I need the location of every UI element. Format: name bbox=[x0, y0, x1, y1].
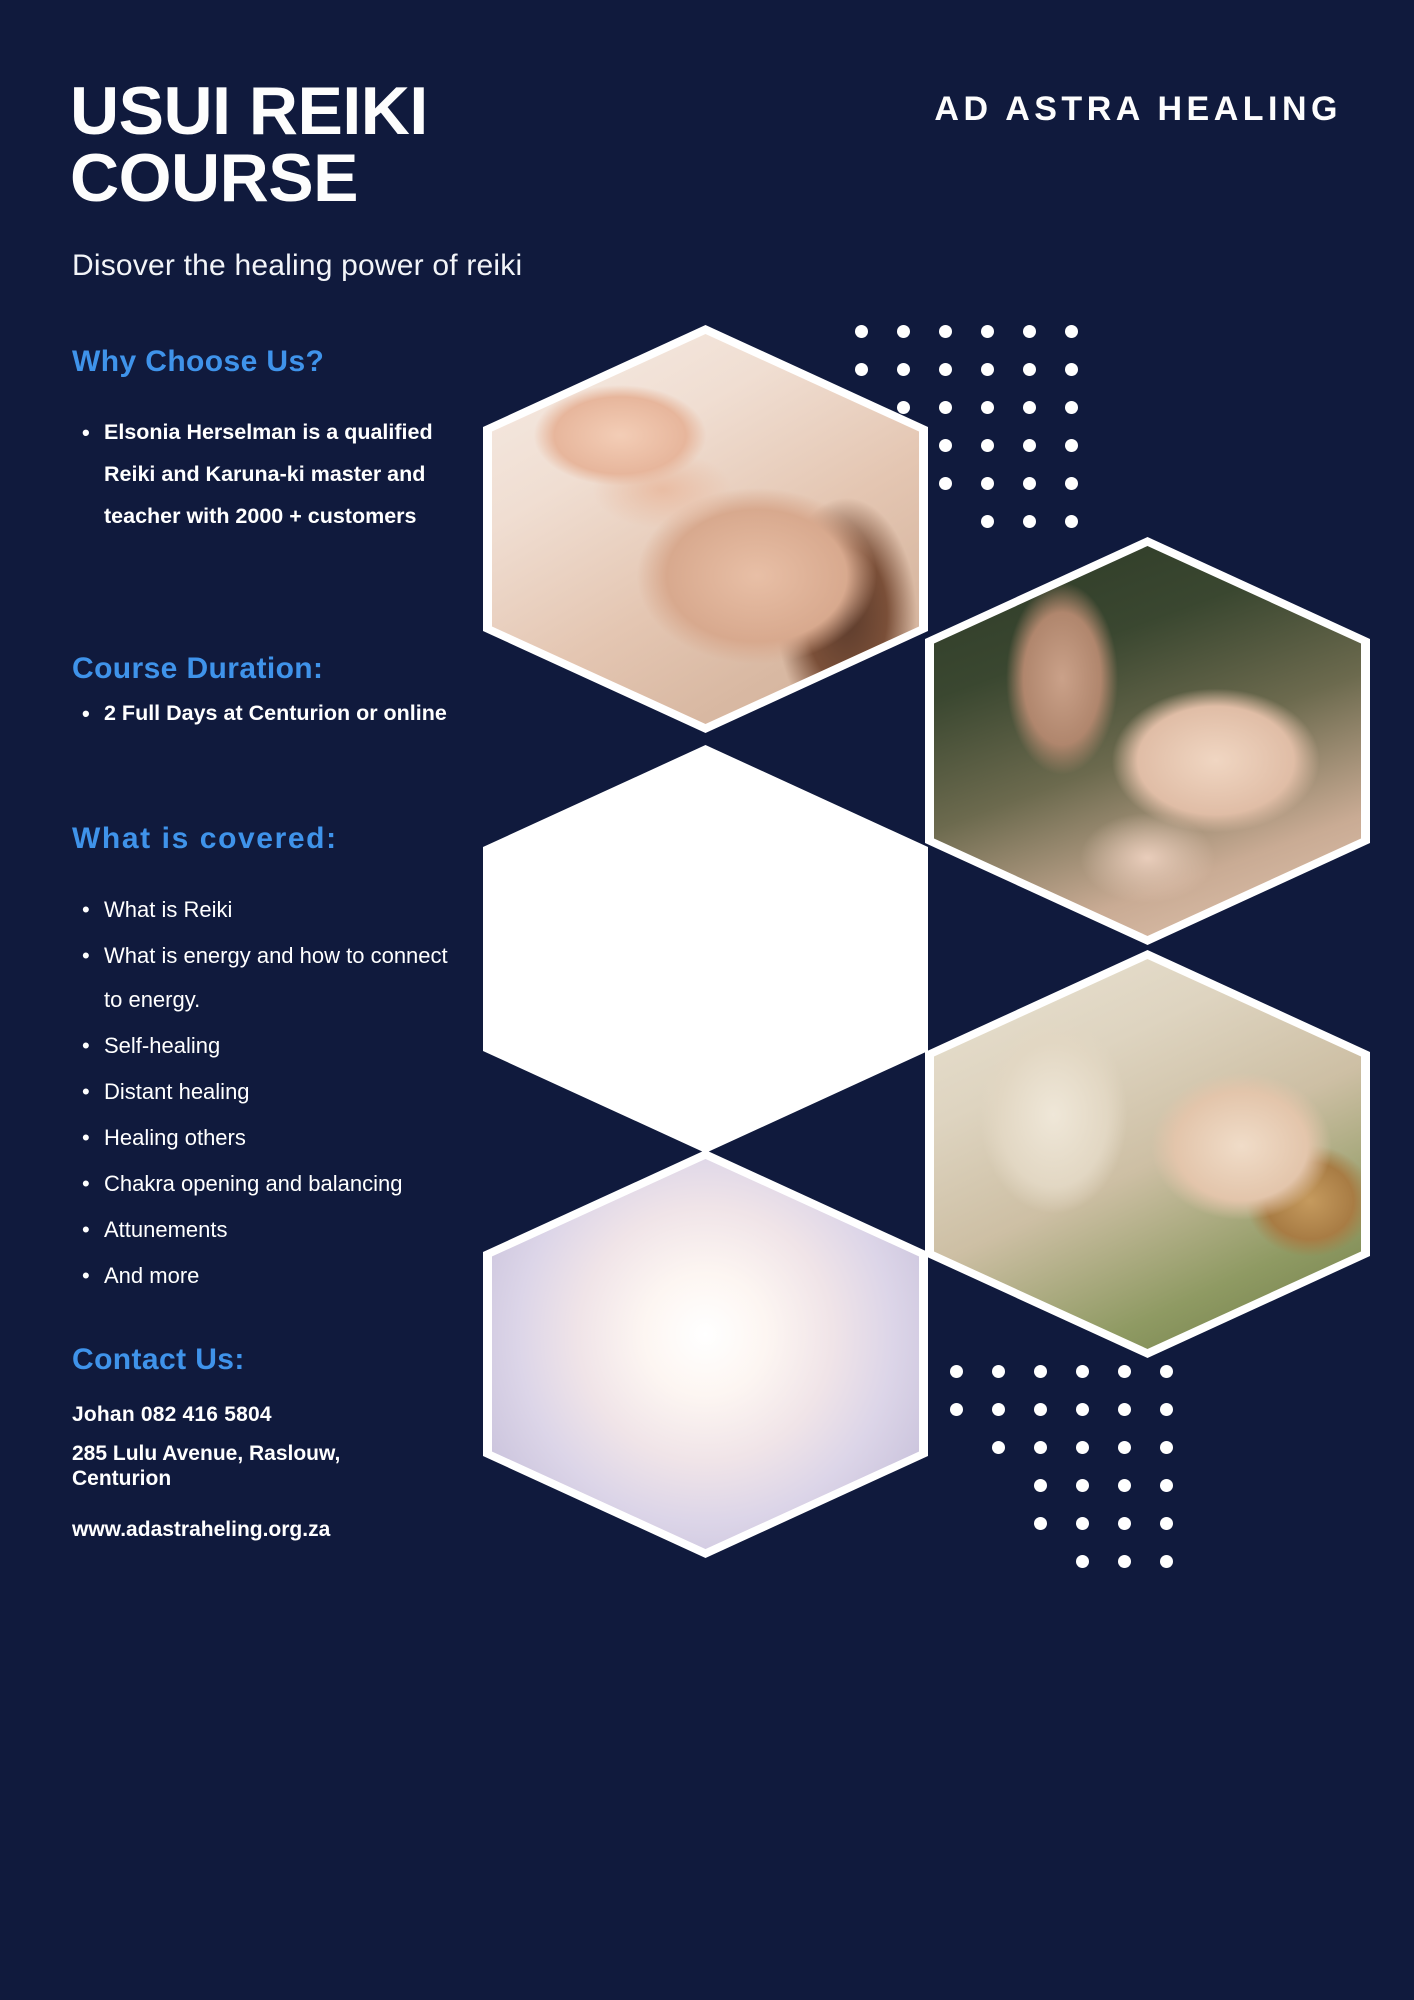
list-item: Distant healing bbox=[72, 1070, 472, 1114]
decorative-dot bbox=[1076, 1441, 1089, 1454]
decorative-dot bbox=[992, 1403, 1005, 1416]
hex-inner bbox=[492, 754, 919, 1144]
section-heading-what-is-covered: What is covered: bbox=[72, 822, 338, 856]
decorative-dot bbox=[1034, 1517, 1047, 1530]
decorative-dot bbox=[981, 363, 994, 376]
decorative-dot bbox=[1076, 1479, 1089, 1492]
decorative-dot bbox=[1076, 1555, 1089, 1568]
decorative-dot bbox=[1076, 1403, 1089, 1416]
list-item: Healing others bbox=[72, 1116, 472, 1160]
why-choose-us-list: Elsonia Herselman is a qualified Reiki a… bbox=[72, 412, 472, 540]
decorative-dot bbox=[992, 1365, 1005, 1378]
hex-inner bbox=[934, 959, 1361, 1349]
page-subtitle: Disover the healing power of reiki bbox=[72, 249, 772, 283]
decorative-dot bbox=[1160, 1517, 1173, 1530]
section-heading-why-choose-us: Why Choose Us? bbox=[72, 345, 324, 379]
contact-website[interactable]: www.adastraheling.org.za bbox=[72, 1518, 330, 1542]
decorative-dot bbox=[939, 477, 952, 490]
list-item: What is energy and how to connect to ene… bbox=[72, 934, 472, 1022]
section-heading-course-duration: Course Duration: bbox=[72, 652, 323, 686]
brand-name: AD ASTRA HEALING bbox=[882, 88, 1342, 132]
glowing-hands-light-photo bbox=[492, 1159, 919, 1549]
page-title: USUI REIKI COURSE bbox=[70, 78, 710, 211]
decorative-dot bbox=[855, 363, 868, 376]
hands-over-face-photo bbox=[934, 546, 1361, 936]
decorative-dot bbox=[939, 439, 952, 452]
hex-photo-shoulder-healing bbox=[925, 950, 1370, 1358]
hex-photo-hands-over-face bbox=[925, 537, 1370, 945]
dot-grid-top-right bbox=[855, 325, 1075, 535]
decorative-dot bbox=[1160, 1555, 1173, 1568]
decorative-dot bbox=[1160, 1365, 1173, 1378]
decorative-dot bbox=[981, 515, 994, 528]
decorative-dot bbox=[1065, 439, 1078, 452]
decorative-dot bbox=[897, 401, 910, 414]
hex-inner bbox=[934, 546, 1361, 936]
decorative-dot bbox=[1034, 1441, 1047, 1454]
decorative-dot bbox=[1023, 477, 1036, 490]
decorative-dot bbox=[950, 1403, 963, 1416]
hex-photo-woman-hands-on-heart bbox=[483, 745, 928, 1153]
decorative-dot bbox=[1034, 1479, 1047, 1492]
decorative-dot bbox=[981, 325, 994, 338]
decorative-dot bbox=[1023, 439, 1036, 452]
woman-hands-on-heart-photo bbox=[492, 754, 919, 1144]
decorative-dot bbox=[1034, 1403, 1047, 1416]
decorative-dot bbox=[1160, 1403, 1173, 1416]
hex-inner bbox=[492, 1159, 919, 1549]
decorative-dot bbox=[1065, 477, 1078, 490]
decorative-dot bbox=[1076, 1517, 1089, 1530]
decorative-dot bbox=[1023, 363, 1036, 376]
decorative-dot bbox=[1118, 1479, 1131, 1492]
decorative-dot bbox=[1118, 1403, 1131, 1416]
decorative-dot bbox=[1118, 1365, 1131, 1378]
what-is-covered-list: What is ReikiWhat is energy and how to c… bbox=[72, 888, 472, 1300]
course-duration-list: 2 Full Days at Centurion or online bbox=[72, 693, 472, 737]
list-item: Attunements bbox=[72, 1208, 472, 1252]
decorative-dot bbox=[950, 1365, 963, 1378]
decorative-dot bbox=[981, 439, 994, 452]
dot-grid-bottom-right bbox=[950, 1365, 1170, 1575]
decorative-dot bbox=[992, 1441, 1005, 1454]
decorative-dot bbox=[1118, 1517, 1131, 1530]
decorative-dot bbox=[981, 477, 994, 490]
decorative-dot bbox=[1160, 1479, 1173, 1492]
section-heading-contact-us: Contact Us: bbox=[72, 1343, 245, 1377]
list-item: What is Reiki bbox=[72, 888, 472, 932]
decorative-dot bbox=[1023, 325, 1036, 338]
decorative-dot bbox=[939, 401, 952, 414]
decorative-dot bbox=[1023, 401, 1036, 414]
list-item: And more bbox=[72, 1254, 472, 1298]
decorative-dot bbox=[1118, 1555, 1131, 1568]
decorative-dot bbox=[1065, 401, 1078, 414]
decorative-dot bbox=[1160, 1441, 1173, 1454]
decorative-dot bbox=[897, 363, 910, 376]
contact-address: 285 Lulu Avenue, Raslouw, Centurion bbox=[72, 1442, 432, 1492]
decorative-dot bbox=[1076, 1365, 1089, 1378]
contact-phone[interactable]: Johan 082 416 5804 bbox=[72, 1403, 272, 1427]
list-item: 2 Full Days at Centurion or online bbox=[72, 693, 472, 735]
decorative-dot bbox=[1065, 325, 1078, 338]
poster-canvas: USUI REIKI COURSE Disover the healing po… bbox=[0, 0, 1414, 2000]
hex-photo-glowing-hands-light bbox=[483, 1150, 928, 1558]
decorative-dot bbox=[1023, 515, 1036, 528]
decorative-dot bbox=[897, 325, 910, 338]
decorative-dot bbox=[939, 363, 952, 376]
decorative-dot bbox=[1065, 363, 1078, 376]
decorative-dot bbox=[981, 401, 994, 414]
decorative-dot bbox=[1118, 1441, 1131, 1454]
list-item: Self-healing bbox=[72, 1024, 472, 1068]
list-item: Chakra opening and balancing bbox=[72, 1162, 472, 1206]
list-item: Elsonia Herselman is a qualified Reiki a… bbox=[72, 412, 472, 538]
decorative-dot bbox=[1034, 1365, 1047, 1378]
decorative-dot bbox=[939, 325, 952, 338]
shoulder-healing-photo bbox=[934, 959, 1361, 1349]
decorative-dot bbox=[1065, 515, 1078, 528]
decorative-dot bbox=[855, 325, 868, 338]
